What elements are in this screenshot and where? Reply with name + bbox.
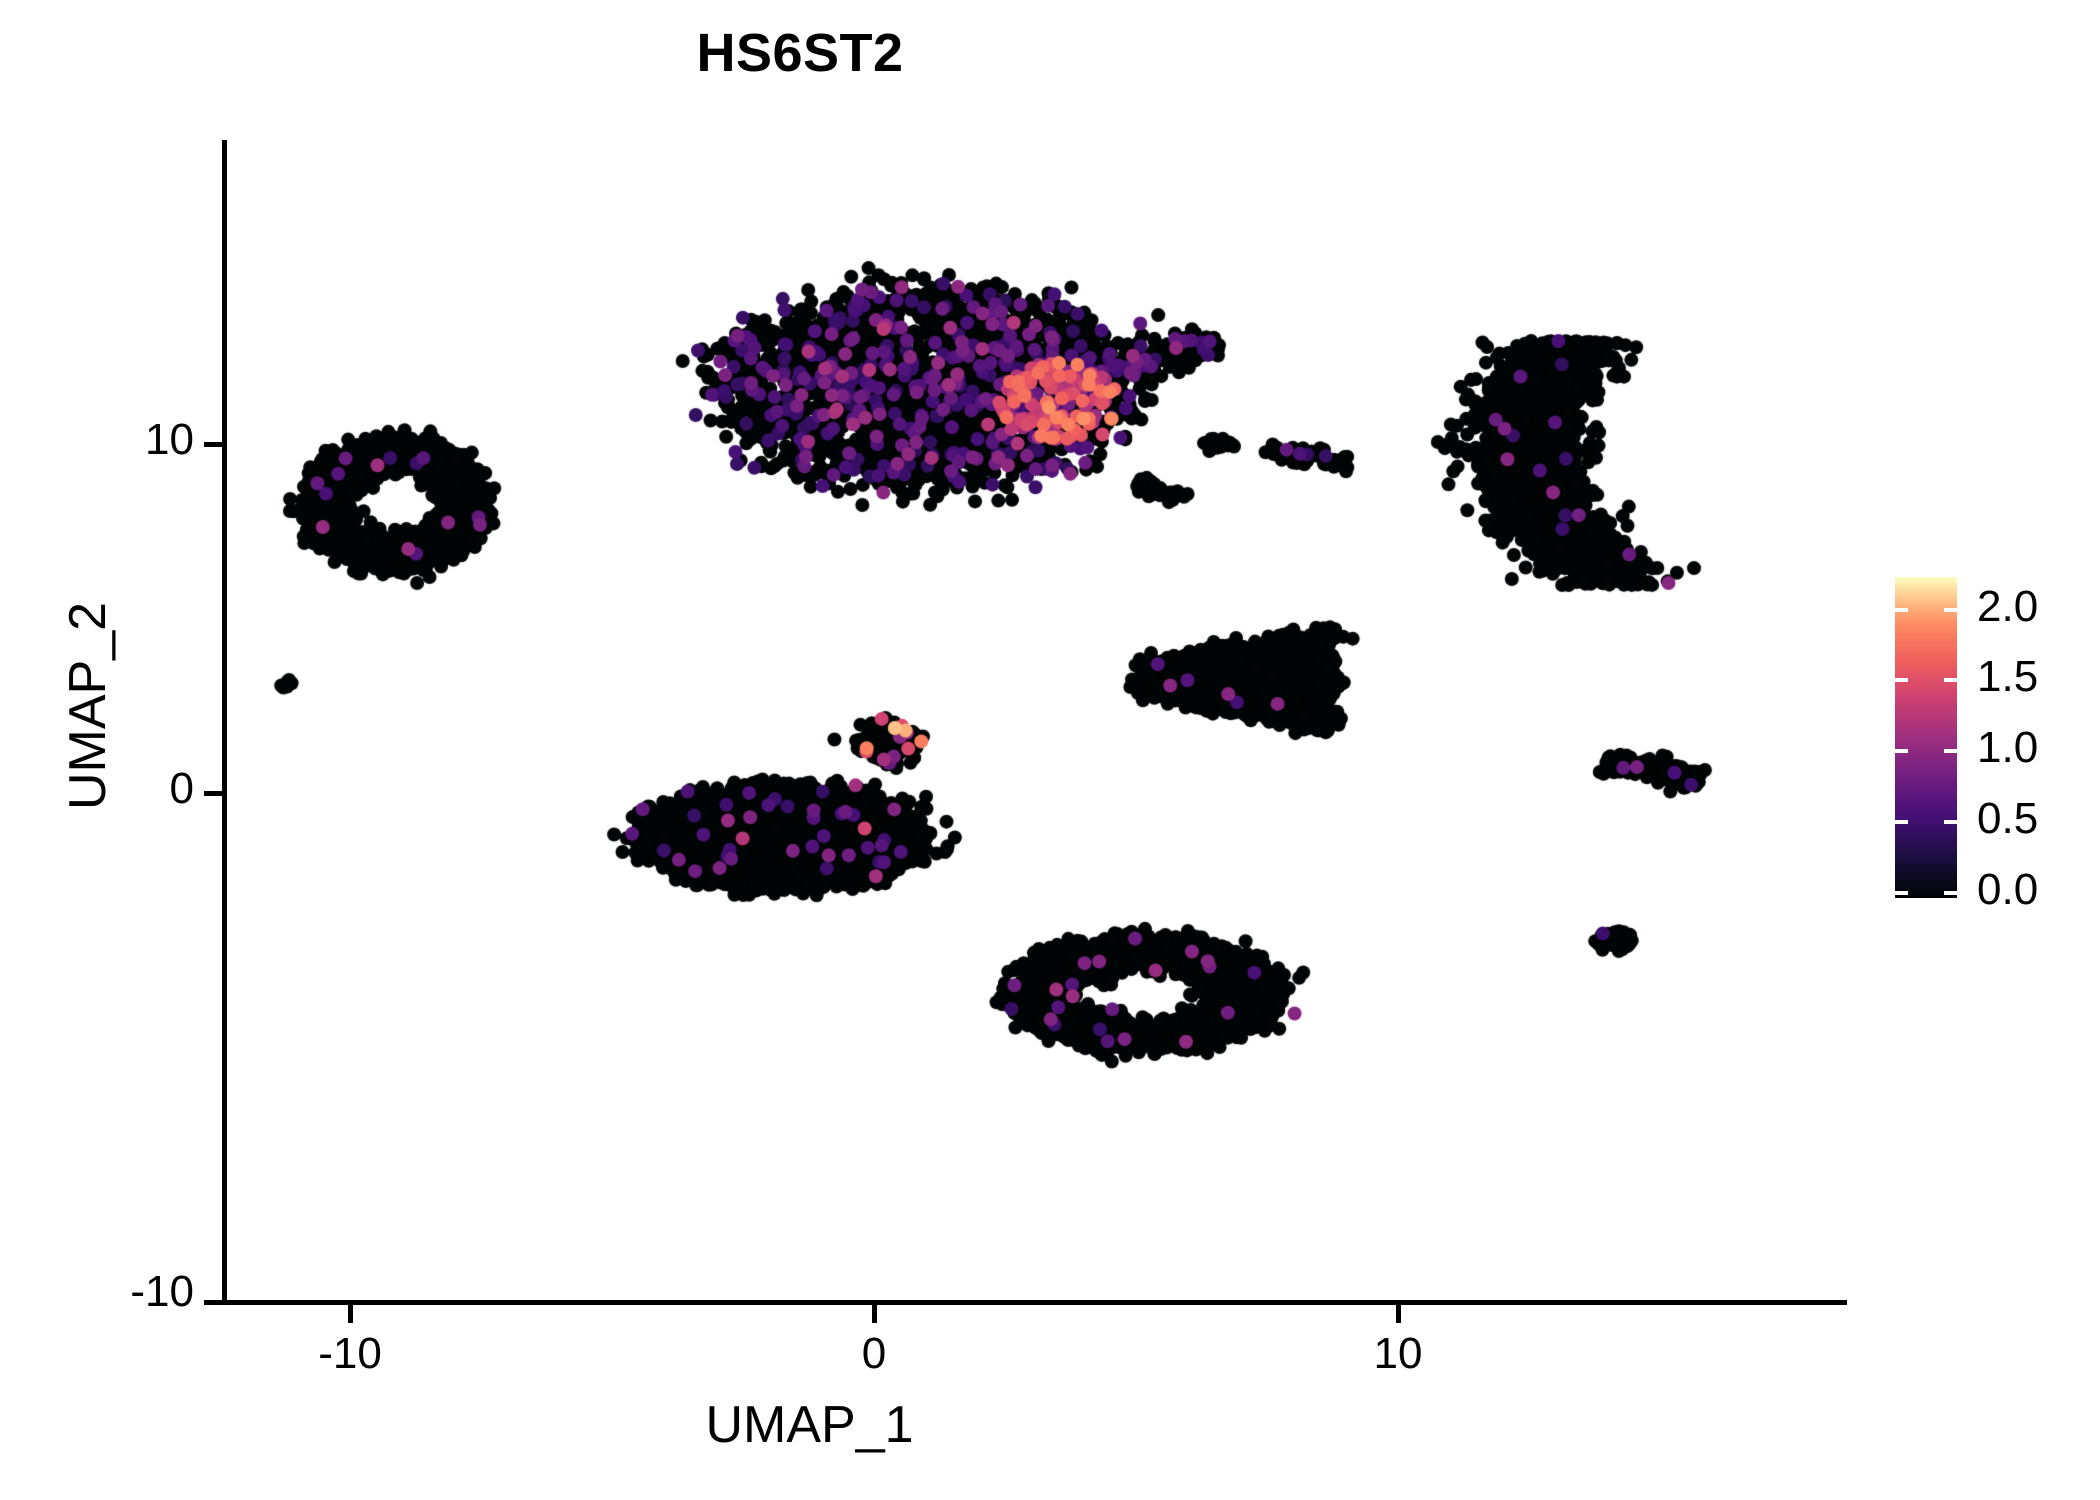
scatter-plot-canvas <box>0 0 2100 1500</box>
x-tick-mark-10 <box>1396 1305 1401 1323</box>
umap-feature-plot: HS6ST2 10 0 -10 -10 0 10 UMAP_1 UMAP_2 2… <box>0 0 2100 1500</box>
legend-tick-15-left <box>1895 678 1908 682</box>
legend-tick-0-left <box>1895 891 1908 895</box>
x-tick-mark-neg10 <box>348 1305 353 1323</box>
y-axis-line <box>222 140 227 1305</box>
legend-tick-1-right <box>1944 749 1957 753</box>
y-tick-mark-0 <box>204 791 222 796</box>
legend-label-2: 2.0 <box>1977 585 2038 629</box>
x-axis-line <box>222 1300 1847 1305</box>
color-legend: 2.0 1.5 1.0 0.5 0.0 <box>1895 577 2085 907</box>
legend-tick-0-right <box>1944 891 1957 895</box>
y-tick-mark-10 <box>204 442 222 447</box>
x-tick-label-10: 10 <box>1298 1332 1498 1376</box>
x-axis-title: UMAP_1 <box>222 1395 1397 1455</box>
y-tick-label-neg10: -10 <box>130 1270 194 1314</box>
y-tick-label-10: 10 <box>145 418 194 462</box>
y-tick-label-0: 0 <box>170 767 194 811</box>
legend-label-0: 0.0 <box>1977 868 2038 912</box>
plot-area <box>0 0 2100 1500</box>
x-tick-label-neg10: -10 <box>250 1332 450 1376</box>
y-tick-mark-neg10 <box>204 1300 222 1305</box>
legend-colorbar <box>1895 577 1957 898</box>
x-tick-mark-0 <box>872 1305 877 1323</box>
y-axis-title: UMAP_2 <box>58 356 118 1056</box>
legend-tick-15-right <box>1944 678 1957 682</box>
x-tick-label-0: 0 <box>774 1332 974 1376</box>
legend-tick-05-right <box>1944 820 1957 824</box>
legend-label-15: 1.5 <box>1977 655 2038 699</box>
legend-tick-2-left <box>1895 608 1908 612</box>
legend-label-1: 1.0 <box>1977 726 2038 770</box>
legend-tick-1-left <box>1895 749 1908 753</box>
legend-tick-2-right <box>1944 608 1957 612</box>
legend-label-05: 0.5 <box>1977 797 2038 841</box>
legend-tick-05-left <box>1895 820 1908 824</box>
